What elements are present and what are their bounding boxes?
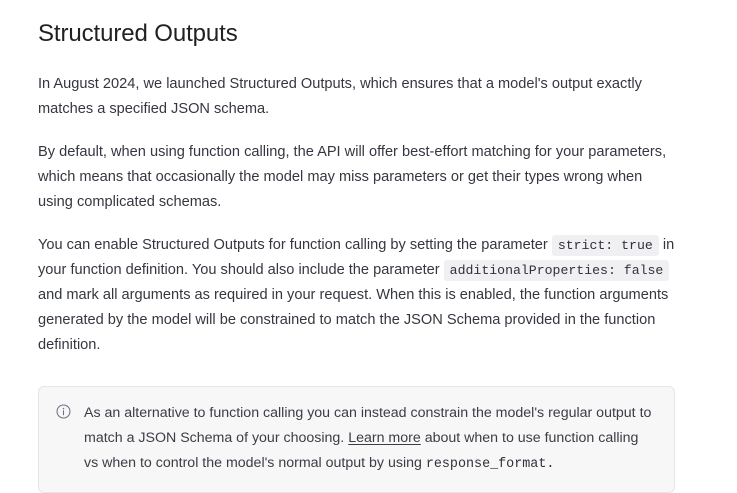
- paragraph-intro: In August 2024, we launched Structured O…: [38, 72, 676, 122]
- info-circle-icon: [56, 404, 71, 419]
- paragraph-default-behavior: By default, when using function calling,…: [38, 140, 676, 215]
- code-additional-properties-false: additionalProperties: false: [444, 260, 670, 281]
- callout-text: As an alternative to function calling yo…: [84, 401, 656, 477]
- code-response-format: response_format.: [426, 457, 555, 472]
- page-title: Structured Outputs: [38, 18, 698, 50]
- enable-tail-text: and mark all arguments as required in yo…: [38, 287, 668, 353]
- enable-lead-text: You can enable Structured Outputs for fu…: [38, 237, 548, 253]
- info-callout: As an alternative to function calling yo…: [38, 386, 675, 493]
- code-strict-true: strict: true: [552, 235, 659, 256]
- documentation-page: Structured Outputs In August 2024, we la…: [0, 0, 698, 493]
- paragraph-enable-structured-outputs: You can enable Structured Outputs for fu…: [38, 233, 676, 358]
- learn-more-link[interactable]: Learn more: [348, 430, 421, 446]
